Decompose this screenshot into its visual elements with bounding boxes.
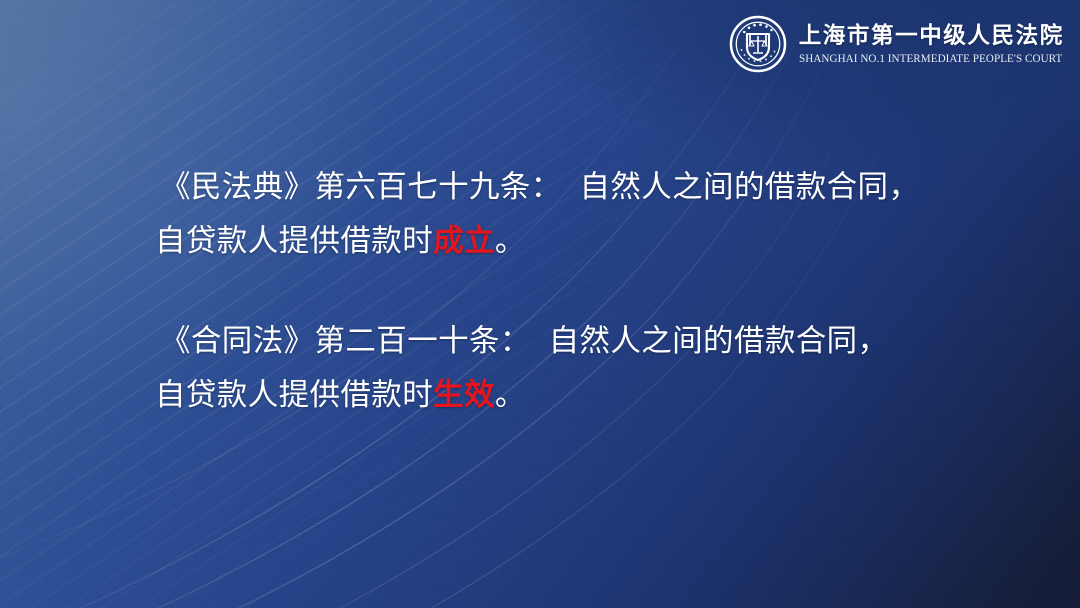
contract-law-line-2: 自贷款人提供借款时生效。 [0,368,1080,422]
civil-code-line1-spacer [562,170,580,204]
contract-law-line2-suffix: 。 [495,378,526,412]
contract-law-line1-text: 自然人之间的借款合同， [549,324,889,358]
contract-law-line-1: 《合同法》第二百一十条： 自然人之间的借款合同， [0,314,1080,368]
contract-law-citation: 《合同法》第二百一十条： [160,324,531,358]
civil-code-line2-suffix: 。 [495,224,526,258]
paragraph-civil-code: 《民法典》第六百七十九条： 自然人之间的借款合同， 自贷款人提供借款时成立。 [0,160,1080,268]
civil-code-line-2: 自贷款人提供借款时成立。 [0,214,1080,268]
court-name-en: SHANGHAI NO.1 INTERMEDIATE PEOPLE'S COUR… [799,53,1062,65]
court-header: 上海市第一中级人民法院 SHANGHAI NO.1 INTERMEDIATE P… [728,14,1066,74]
court-name-block: 上海市第一中级人民法院 SHANGHAI NO.1 INTERMEDIATE P… [799,23,1066,64]
paragraph-contract-law: 《合同法》第二百一十条： 自然人之间的借款合同， 自贷款人提供借款时生效。 [0,314,1080,422]
slide-content: 《民法典》第六百七十九条： 自然人之间的借款合同， 自贷款人提供借款时成立。 《… [0,160,1080,422]
contract-law-line1-spacer [531,324,549,358]
civil-code-line2-prefix: 自贷款人提供借款时 [155,224,433,258]
civil-code-line-1: 《民法典》第六百七十九条： 自然人之间的借款合同， [0,160,1080,214]
civil-code-highlight: 成立 [433,224,495,258]
contract-law-line2-prefix: 自贷款人提供借款时 [155,378,433,412]
civil-code-citation: 《民法典》第六百七十九条： [160,170,562,204]
slide-canvas: 上海市第一中级人民法院 SHANGHAI NO.1 INTERMEDIATE P… [0,0,1080,608]
contract-law-highlight: 生效 [433,378,495,412]
court-name-cn: 上海市第一中级人民法院 [799,23,1064,48]
court-emblem-icon [728,14,788,74]
civil-code-line1-text: 自然人之间的借款合同， [579,170,919,204]
